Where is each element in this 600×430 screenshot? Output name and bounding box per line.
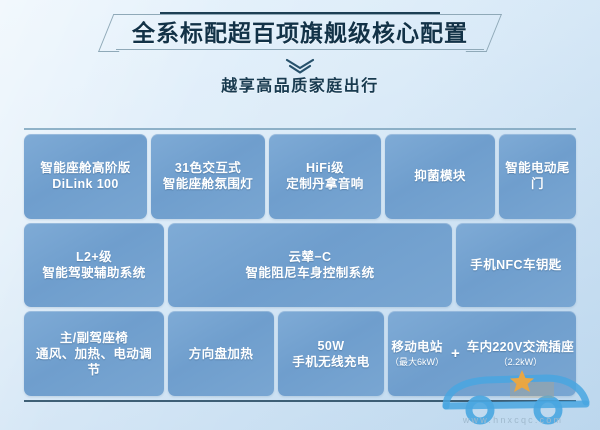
vtol-station-spec: （最大6kW） [390, 356, 444, 369]
feature-grid: 智能座舱高阶版 DiLink 100 31色交互式 智能座舱氛围灯 HiFi级 … [24, 134, 576, 396]
feature-card-line1: 抑菌模块 [414, 168, 466, 184]
feature-card-line2: 手机无线充电 [292, 354, 369, 370]
page-title: 全系标配超百项旗舰级核心配置 [132, 17, 468, 49]
feature-card-line2: 智能驾驶辅助系统 [42, 265, 145, 281]
feature-card-power-tailgate[interactable]: 智能电动尾门 [499, 134, 576, 219]
feature-card-vtol-power[interactable]: 移动电站 （最大6kW） + 车内220V交流插座 （2.2kW） [388, 311, 576, 396]
feature-card-line2: 通风、加热、电动调节 [30, 346, 158, 378]
title-frame-accent-rail [160, 12, 440, 14]
feature-card-line2: 智能座舱氛围灯 [163, 176, 253, 192]
feature-card-line1: 云辇−C [245, 249, 374, 265]
panel-top-rule [24, 128, 576, 130]
feature-card-ambient-light[interactable]: 31色交互式 智能座舱氛围灯 [151, 134, 265, 219]
title-frame-right-edge [466, 14, 502, 52]
title-frame-left-edge [98, 14, 134, 52]
feature-card-line1: 50W [292, 338, 369, 354]
title-frame-bottom-rail [116, 49, 484, 50]
feature-card-line1: 31色交互式 [163, 160, 253, 176]
promo-slide: 全系标配超百项旗舰级核心配置 越享高品质家庭出行 智能座舱高阶版 DiLink … [0, 0, 600, 430]
feature-card-heated-steering[interactable]: 方向盘加热 [168, 311, 274, 396]
title-frame: 全系标配超百项旗舰级核心配置 [98, 12, 502, 53]
page-subtitle: 越享高品质家庭出行 [0, 76, 600, 98]
feature-card-line1: 主/副驾座椅 [30, 330, 158, 346]
feature-card-disus-c[interactable]: 云辇−C 智能阻尼车身控制系统 [168, 223, 452, 308]
feature-card-dilink[interactable]: 智能座舱高阶版 DiLink 100 [24, 134, 147, 219]
vtol-station-label: 移动电站 [390, 339, 444, 355]
feature-card-line2: 定制丹拿音响 [286, 176, 363, 192]
feature-card-line1: L2+级 [42, 249, 145, 265]
feature-card-line1: 智能座舱高阶版 [40, 160, 130, 176]
panel-bottom-rule [24, 400, 576, 402]
feature-card-nfc-key[interactable]: 手机NFC车钥匙 [456, 223, 576, 308]
feature-grid-panel: 智能座舱高阶版 DiLink 100 31色交互式 智能座舱氛围灯 HiFi级 … [24, 128, 576, 402]
feature-card-line1: 手机NFC车钥匙 [470, 257, 561, 273]
vtol-socket-label: 车内220V交流插座 [467, 339, 574, 355]
feature-row-2: L2+级 智能驾驶辅助系统 云辇−C 智能阻尼车身控制系统 手机NFC车钥匙 [24, 223, 576, 308]
plus-symbol: + [450, 346, 461, 362]
feature-card-front-seats[interactable]: 主/副驾座椅 通风、加热、电动调节 [24, 311, 164, 396]
feature-row-1: 智能座舱高阶版 DiLink 100 31色交互式 智能座舱氛围灯 HiFi级 … [24, 134, 576, 219]
vtol-mobile-station: 移动电站 （最大6kW） [390, 339, 444, 369]
watermark-url: www.hnxcqc.com [436, 415, 590, 425]
header: 全系标配超百项旗舰级核心配置 越享高品质家庭出行 [0, 0, 600, 98]
feature-card-line2: DiLink 100 [40, 176, 130, 192]
chevron-double-down-icon [283, 58, 317, 74]
feature-card-l2-adas[interactable]: L2+级 智能驾驶辅助系统 [24, 223, 164, 308]
feature-card-hifi-audio[interactable]: HiFi级 定制丹拿音响 [269, 134, 381, 219]
feature-card-line1: 智能电动尾门 [505, 160, 570, 192]
vtol-socket-spec: （2.2kW） [467, 356, 574, 369]
feature-card-line1: HiFi级 [286, 160, 363, 176]
feature-row-3: 主/副驾座椅 通风、加热、电动调节 方向盘加热 50W 手机无线充电 [24, 311, 576, 396]
vtol-ac-socket: 车内220V交流插座 （2.2kW） [467, 339, 574, 369]
feature-card-wireless-charging[interactable]: 50W 手机无线充电 [278, 311, 384, 396]
feature-card-antibacterial[interactable]: 抑菌模块 [385, 134, 495, 219]
feature-card-line1: 方向盘加热 [189, 346, 254, 362]
feature-card-line2: 智能阻尼车身控制系统 [245, 265, 374, 281]
